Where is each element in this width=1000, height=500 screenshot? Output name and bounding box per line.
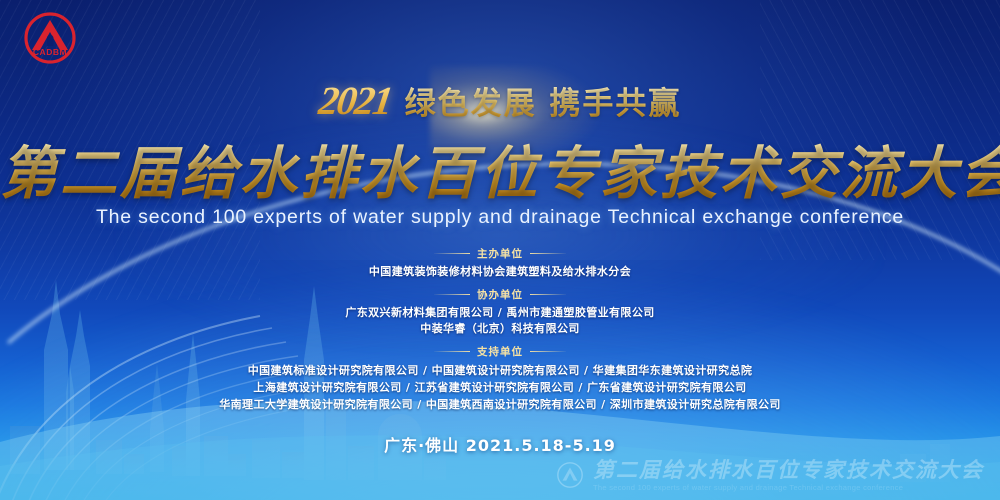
rule-left bbox=[434, 253, 470, 254]
conference-banner: CADBM 2021 绿色发展 携手共赢 第二届给水排水百位专家技术交流大会 T… bbox=[0, 0, 1000, 500]
organizer-block-support: 支持单位 中国建筑标准设计研究院有限公司 / 中国建筑设计研究院有限公司 / 华… bbox=[0, 344, 1000, 413]
organizer-line: 中国建筑装饰装修材料协会建筑塑料及给水排水分会 bbox=[0, 264, 1000, 280]
organizer-block-host: 主办单位 中国建筑装饰装修材料协会建筑塑料及给水排水分会 bbox=[0, 246, 1000, 280]
organizer-line: 中装华睿（北京）科技有限公司 bbox=[0, 321, 1000, 337]
tagline-row: 2021 绿色发展 携手共赢 bbox=[0, 72, 1000, 128]
rule-left bbox=[434, 294, 470, 295]
watermark-logo-icon bbox=[555, 460, 585, 490]
rule-right bbox=[530, 253, 566, 254]
organizer-line: 广东双兴新材料集团有限公司 / 禹州市建通塑胶管业有限公司 bbox=[0, 305, 1000, 321]
organizer-heading-host: 主办单位 bbox=[0, 246, 1000, 261]
organizer-line: 中国建筑标准设计研究院有限公司 / 中国建筑设计研究院有限公司 / 华建集团华东… bbox=[0, 362, 1000, 379]
rule-right bbox=[530, 351, 566, 352]
organizer-line: 上海建筑设计研究院有限公司 / 江苏省建筑设计研究院有限公司 / 广东省建筑设计… bbox=[0, 379, 1000, 396]
footer-watermark: 第二届给水排水百位专家技术交流大会 The second 100 experts… bbox=[555, 459, 984, 492]
watermark-text: 第二届给水排水百位专家技术交流大会 The second 100 experts… bbox=[593, 459, 984, 492]
watermark-subtitle: The second 100 experts of water supply a… bbox=[593, 483, 984, 492]
organizer-sections: 主办单位 中国建筑装饰装修材料协会建筑塑料及给水排水分会 协办单位 广东双兴新材… bbox=[0, 246, 1000, 420]
rule-right bbox=[530, 294, 566, 295]
main-title: 第二届给水排水百位专家技术交流大会 bbox=[0, 128, 1000, 210]
banner-content: 2021 绿色发展 携手共赢 第二届给水排水百位专家技术交流大会 The sec… bbox=[0, 0, 1000, 500]
organizer-line: 华南理工大学建筑设计研究院有限公司 / 中国建筑西南设计研究院有限公司 / 深圳… bbox=[0, 396, 1000, 413]
organizer-heading-support: 支持单位 bbox=[0, 344, 1000, 359]
organizer-heading-host-label: 主办单位 bbox=[477, 246, 523, 261]
organizer-block-coorganizer: 协办单位 广东双兴新材料集团有限公司 / 禹州市建通塑胶管业有限公司 中装华睿（… bbox=[0, 287, 1000, 337]
organizer-heading-coorganizer: 协办单位 bbox=[0, 287, 1000, 302]
organizer-heading-coorganizer-label: 协办单位 bbox=[477, 287, 523, 302]
event-location-date: 广东·佛山 2021.5.18-5.19 bbox=[0, 432, 1000, 456]
tagline-text: 绿色发展 携手共赢 bbox=[405, 78, 682, 123]
rule-left bbox=[434, 351, 470, 352]
year-label: 2021 bbox=[315, 77, 394, 124]
sub-title: The second 100 experts of water supply a… bbox=[0, 206, 1000, 229]
organizer-heading-support-label: 支持单位 bbox=[477, 344, 523, 359]
watermark-title: 第二届给水排水百位专家技术交流大会 bbox=[593, 459, 984, 481]
